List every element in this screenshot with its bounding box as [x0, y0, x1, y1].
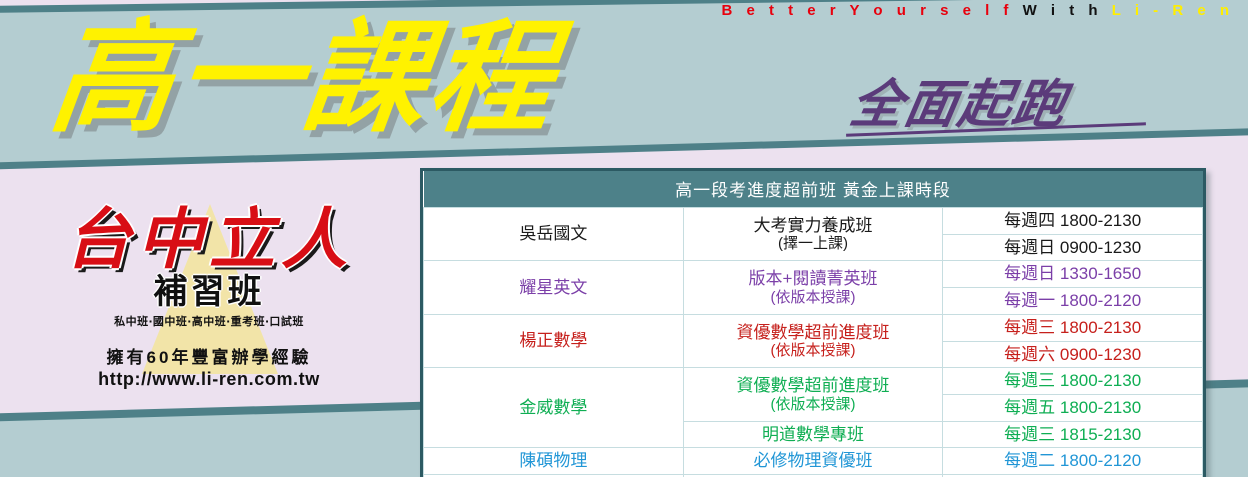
course-cell: 資優數學超前進度班(依版本授課)	[683, 314, 943, 367]
time-cell: 每週四 1800-2130	[943, 208, 1203, 235]
tagline: B e t t e r Y o u r s e l f W i t h L i …	[0, 2, 1248, 19]
tagline-part-1: B e t t e r Y o u r s e l f	[721, 2, 1022, 19]
logo-experience: 擁有60年豐富辦學經驗	[44, 343, 374, 368]
teacher-cell: 耀星英文	[424, 261, 684, 314]
course-note: (擇一上課)	[688, 235, 939, 252]
course-cell: 明道數學專班	[683, 421, 943, 448]
time-cell: 每週日 1330-1650	[943, 261, 1203, 288]
schedule-table: 高一段考進度超前班 黃金上課時段 吳岳國文大考實力養成班(擇一上課)每週四 18…	[423, 171, 1203, 477]
table-row: 楊正數學資優數學超前進度班(依版本授課)每週三 1800-2130	[424, 314, 1203, 341]
table-body: 吳岳國文大考實力養成班(擇一上課)每週四 1800-2130每週日 0900-1…	[424, 208, 1203, 477]
teacher-cell: 陳碩物理	[424, 448, 684, 475]
logo-type-name: 補習班	[44, 274, 374, 311]
table-row: 陳碩物理必修物理資優班每週二 1800-2120	[424, 448, 1203, 475]
table-header-title: 高一段考進度超前班 黃金上課時段	[424, 171, 1203, 208]
time-cell: 每週二 1800-2120	[943, 448, 1203, 475]
logo-class-list: 私中班‧國中班‧高中班‧重考班‧口試班	[44, 313, 374, 329]
table-row: 吳岳國文大考實力養成班(擇一上課)每週四 1800-2130	[424, 208, 1203, 235]
page-title: 高一課程	[44, 10, 565, 147]
teacher-cell: 楊正數學	[424, 314, 684, 367]
course-note: (依版本授課)	[688, 289, 939, 306]
time-cell: 每週一 1800-2120	[943, 288, 1203, 315]
tagline-part-3: L i - R e n	[1112, 2, 1234, 19]
time-cell: 每週六 0900-1230	[943, 341, 1203, 368]
course-cell: 必修物理資優班	[683, 448, 943, 475]
promo-banner: B e t t e r Y o u r s e l f W i t h L i …	[0, 0, 1248, 477]
time-cell: 每週五 1800-2130	[943, 395, 1203, 422]
logo: 台中立人 補習班 私中班‧國中班‧高中班‧重考班‧口試班 擁有60年豐富辦學經驗…	[44, 206, 374, 390]
course-cell: 資優數學超前進度班(依版本授課)	[683, 368, 943, 421]
table-header-row: 高一段考進度超前班 黃金上課時段	[424, 171, 1203, 208]
schedule-table-container: 高一段考進度超前班 黃金上課時段 吳岳國文大考實力養成班(擇一上課)每週四 18…	[420, 168, 1206, 477]
table-row: 耀星英文版本+閱讀菁英班(依版本授課)每週日 1330-1650	[424, 261, 1203, 288]
course-cell: 版本+閱讀菁英班(依版本授課)	[683, 261, 943, 314]
course-note: (依版本授課)	[688, 396, 939, 413]
time-cell: 每週日 0900-1230	[943, 234, 1203, 261]
teacher-cell: 金威數學	[424, 368, 684, 448]
table-row: 金威數學資優數學超前進度班(依版本授課)每週三 1800-2130	[424, 368, 1203, 395]
logo-brand-name: 台中立人	[44, 206, 374, 272]
time-cell: 每週三 1800-2130	[943, 368, 1203, 395]
course-cell: 大考實力養成班(擇一上課)	[683, 208, 943, 261]
time-cell: 每週三 1800-2130	[943, 314, 1203, 341]
tagline-part-2: W i t h	[1023, 2, 1112, 19]
logo-website-url[interactable]: http://www.li-ren.com.tw	[44, 369, 374, 390]
teacher-cell: 吳岳國文	[424, 208, 684, 261]
course-note: (依版本授課)	[688, 342, 939, 359]
time-cell: 每週三 1815-2130	[943, 421, 1203, 448]
